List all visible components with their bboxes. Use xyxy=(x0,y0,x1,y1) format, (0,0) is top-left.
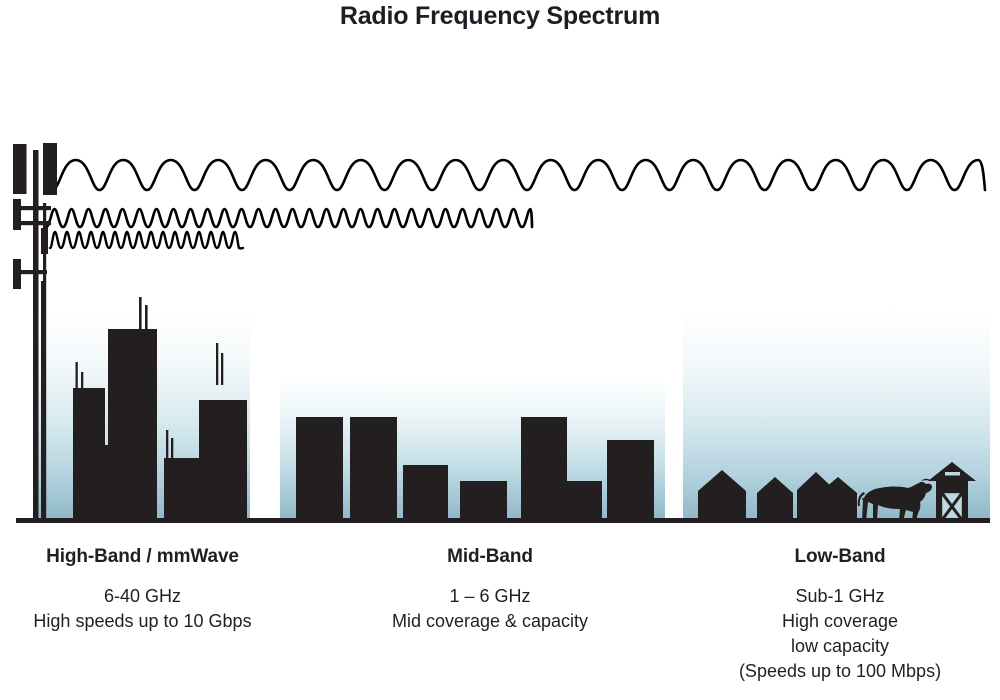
band-title-mid: Mid-Band xyxy=(345,546,635,568)
high-band-wave xyxy=(52,160,985,190)
band-title-low: Low-Band xyxy=(690,546,990,568)
tower-antenna-panel-small xyxy=(41,228,48,254)
caption-mid-band: Mid-Band 1 – 6 GHz Mid coverage & capaci… xyxy=(345,546,635,634)
spire-b2 xyxy=(145,305,148,330)
spire-c2 xyxy=(171,438,173,460)
building-mid-1 xyxy=(296,417,343,522)
spire-b1 xyxy=(139,297,142,330)
tower-crossarm-upper xyxy=(13,206,51,210)
building-high-d xyxy=(199,400,247,522)
caption-low-band: Low-Band Sub-1 GHz High coverage low cap… xyxy=(690,546,990,684)
band-line-high-0: 6-40 GHz xyxy=(0,584,285,609)
tower-crossarm-bottom xyxy=(13,270,47,274)
spire-d2 xyxy=(221,353,223,385)
building-mid-6 xyxy=(607,440,654,522)
low-band-wave xyxy=(50,232,243,248)
band-line-low-1: High coverage xyxy=(690,609,990,634)
building-high-c xyxy=(164,458,199,522)
band-line-low-0: Sub-1 GHz xyxy=(690,584,990,609)
tower-antenna-panel-right xyxy=(43,143,57,195)
wave-group xyxy=(46,160,985,248)
building-mid-4 xyxy=(460,481,507,522)
tower-antenna-panel-left xyxy=(13,144,27,194)
ground-line xyxy=(16,518,990,523)
spire-d1 xyxy=(216,343,218,385)
building-mid-3 xyxy=(403,465,448,522)
band-line-high-1: High speeds up to 10 Gbps xyxy=(0,609,285,634)
building-high-b-base xyxy=(105,445,157,522)
band-line-mid-1: Mid coverage & capacity xyxy=(345,609,635,634)
band-line-mid-0: 1 – 6 GHz xyxy=(345,584,635,609)
tower-leg-brace xyxy=(41,281,44,522)
tower-crossarm-lower xyxy=(13,221,51,225)
barn-vent xyxy=(945,472,960,476)
tower-antenna-panel-mid xyxy=(13,199,21,230)
caption-high-band: High-Band / mmWave 6-40 GHz High speeds … xyxy=(0,546,285,634)
band-title-high: High-Band / mmWave xyxy=(0,546,285,568)
spire-c1 xyxy=(166,430,168,460)
building-high-a xyxy=(73,388,105,522)
building-mid-5 xyxy=(521,417,567,522)
building-mid-5-wing xyxy=(567,481,602,522)
mid-band-wave xyxy=(46,209,532,227)
tower-mast xyxy=(33,150,39,522)
band-line-low-3: (Speeds up to 100 Mbps) xyxy=(690,659,990,684)
building-mid-2 xyxy=(350,417,397,522)
band-line-low-2: low capacity xyxy=(690,634,990,659)
